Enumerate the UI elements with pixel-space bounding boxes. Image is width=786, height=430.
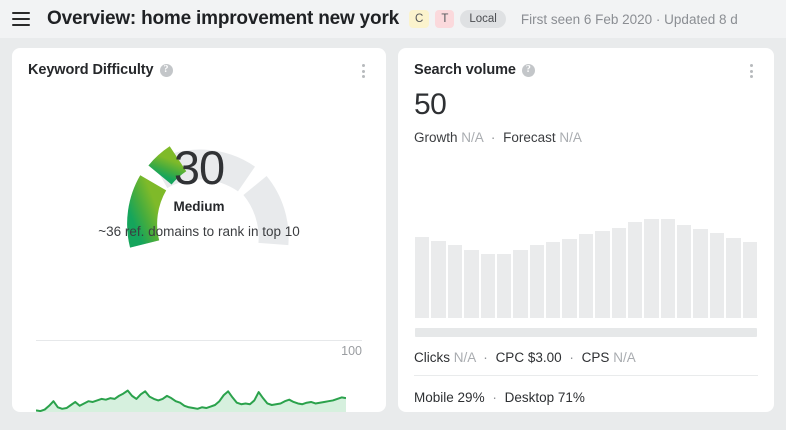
- bar-5[interactable]: [481, 254, 495, 318]
- page-title: Overview: home improvement new york: [47, 8, 399, 30]
- bar-13[interactable]: [612, 228, 626, 318]
- bar-7[interactable]: [513, 250, 527, 318]
- status-badge-traffic[interactable]: T: [435, 10, 454, 28]
- header-badges: C T Local: [409, 10, 506, 28]
- desktop-label: Desktop: [505, 390, 555, 405]
- search-volume-bar-chart: [415, 208, 757, 318]
- keyword-difficulty-title: Keyword Difficulty: [28, 62, 154, 78]
- gauge-center-readout: 30 Medium: [12, 144, 386, 214]
- device-split-row: Mobile 29% · Desktop 71%: [414, 390, 758, 405]
- bar-1[interactable]: [415, 237, 429, 318]
- bar-9[interactable]: [546, 242, 560, 318]
- clicks-cpc-cps-row: Clicks N/A · CPC $3.00 · CPS N/A: [414, 350, 758, 365]
- chart-range-scrollbar[interactable]: [415, 328, 757, 337]
- desktop-value: 71%: [558, 390, 585, 405]
- bar-6[interactable]: [497, 254, 511, 318]
- metric-divider: [414, 375, 758, 376]
- bar-10[interactable]: [562, 239, 576, 318]
- clicks-value: N/A: [454, 350, 476, 365]
- growth-label: Growth: [414, 130, 458, 145]
- cpc-value: $3.00: [528, 350, 562, 365]
- bar-11[interactable]: [579, 234, 593, 318]
- bar-12[interactable]: [595, 231, 609, 318]
- separator-dot: ·: [569, 350, 574, 365]
- question-mark-icon[interactable]: ?: [522, 64, 535, 77]
- forecast-label: Forecast: [503, 130, 556, 145]
- bar-16[interactable]: [661, 219, 675, 318]
- sparkline-divider: [36, 340, 362, 341]
- bar-21[interactable]: [743, 242, 757, 318]
- bar-18[interactable]: [693, 229, 707, 318]
- kebab-menu-icon[interactable]: [744, 63, 758, 79]
- mobile-label: Mobile: [414, 390, 454, 405]
- question-mark-icon[interactable]: ?: [160, 64, 173, 77]
- separator-dot: ·: [483, 350, 488, 365]
- bar-20[interactable]: [726, 238, 740, 318]
- bar-4[interactable]: [464, 250, 478, 318]
- status-badge-local[interactable]: Local: [460, 10, 506, 28]
- app-root: Overview: home improvement new york C T …: [0, 0, 786, 430]
- header-meta-text: First seen 6 Feb 2020 · Updated 8 d: [521, 12, 738, 27]
- bar-19[interactable]: [710, 233, 724, 318]
- growth-value: N/A: [461, 130, 483, 145]
- bar-14[interactable]: [628, 222, 642, 318]
- search-volume-title: Search volume: [414, 62, 516, 78]
- search-volume-card: Search volume ? 50 Growth N/A · Forecast…: [398, 48, 774, 412]
- app-header: Overview: home improvement new york C T …: [0, 0, 786, 38]
- separator-dot: ·: [492, 390, 497, 405]
- bar-17[interactable]: [677, 225, 691, 319]
- keyword-difficulty-gauge: 30 Medium ~36 ref. domains to rank in to…: [12, 82, 386, 254]
- bar-15[interactable]: [644, 219, 658, 318]
- search-volume-value: 50: [414, 88, 774, 121]
- search-volume-growth-forecast: Growth N/A · Forecast N/A: [414, 130, 774, 145]
- keyword-difficulty-card-header: Keyword Difficulty ?: [12, 48, 386, 78]
- cps-value: N/A: [613, 350, 636, 365]
- keyword-difficulty-card: Keyword Difficulty ?: [12, 48, 386, 412]
- clicks-label: Clicks: [414, 350, 450, 365]
- separator-dot: ·: [491, 130, 496, 145]
- forecast-value: N/A: [559, 130, 582, 145]
- kebab-menu-icon[interactable]: [356, 63, 370, 79]
- cps-label: CPS: [582, 350, 610, 365]
- bar-2[interactable]: [431, 241, 445, 318]
- search-volume-card-header: Search volume ?: [398, 48, 774, 78]
- hamburger-icon[interactable]: [12, 12, 30, 26]
- keyword-difficulty-sparkline: [36, 348, 346, 412]
- cpc-label: CPC: [496, 350, 525, 365]
- bar-3[interactable]: [448, 245, 462, 318]
- keyword-difficulty-subtext: ~36 ref. domains to rank in top 10: [12, 224, 386, 239]
- bar-8[interactable]: [530, 245, 544, 318]
- keyword-difficulty-value: 30: [12, 144, 386, 191]
- mobile-value: 29%: [458, 390, 485, 405]
- status-badge-clicks[interactable]: C: [409, 10, 429, 28]
- keyword-difficulty-label: Medium: [12, 199, 386, 214]
